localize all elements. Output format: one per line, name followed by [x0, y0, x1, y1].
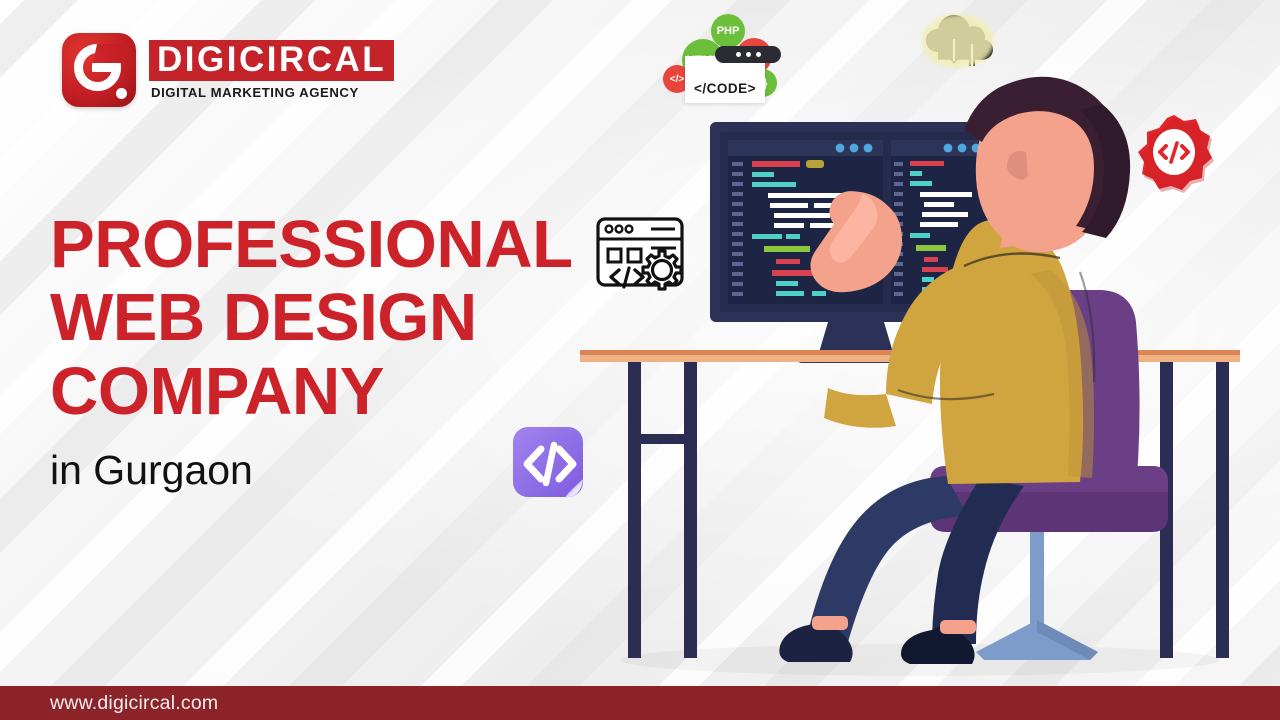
logo-text-block: DIGICIRCAL DIGITAL MARKETING AGENCY [149, 40, 394, 100]
footer-bar: www.digicircal.com [0, 686, 1280, 720]
titlebar-dot-2 [746, 52, 751, 57]
logo-wordmark: DIGICIRCAL [149, 40, 394, 81]
logo-mark-icon [62, 33, 136, 107]
workspace-illustration [560, 60, 1260, 685]
titlebar-dot-3 [756, 52, 761, 57]
badge-php-label: PHP [717, 25, 740, 37]
titlebar-dot-1 [736, 52, 741, 57]
logo-g-bar [92, 63, 118, 72]
brand-logo[interactable]: DIGICIRCAL DIGITAL MARKETING AGENCY [62, 33, 394, 107]
logo-tagline: DIGITAL MARKETING AGENCY [149, 85, 394, 100]
logo-g-dot [116, 88, 127, 99]
banner-root: DIGICIRCAL DIGITAL MARKETING AGENCY PROF… [0, 0, 1280, 720]
logo-g-cut [93, 44, 127, 63]
footer-website-url[interactable]: www.digicircal.com [0, 692, 218, 715]
